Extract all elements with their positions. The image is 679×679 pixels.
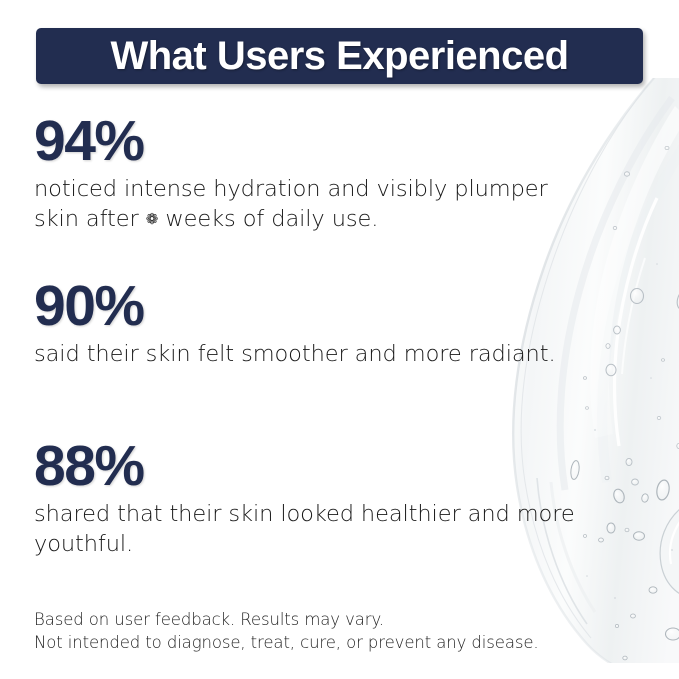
stat-value: 88% [34, 437, 594, 495]
stat-block: 88% shared that their skin looked health… [34, 437, 594, 559]
stat-block: 90% said their skin felt smoother and mo… [34, 277, 594, 369]
page-title: What Users Experienced [110, 36, 568, 76]
stat-block: 94% noticed intense hydration and visibl… [34, 112, 594, 234]
stat-description: noticed intense hydration and visibly pl… [34, 174, 590, 234]
stat-value: 94% [34, 112, 594, 170]
disclaimer-line-1: Based on user feedback. Results may vary… [34, 608, 574, 631]
stat-description: shared that their skin looked healthier … [34, 499, 590, 559]
disclaimer: Based on user feedback. Results may vary… [34, 608, 574, 655]
infographic-canvas: What Users Experienced 94% noticed inten… [0, 0, 679, 679]
disclaimer-line-2: Not intended to diagnose, treat, cure, o… [34, 631, 574, 654]
flower-asterisk-glyph: ❁ [146, 210, 159, 228]
stat-description-text-after: weeks of daily use. [158, 206, 378, 232]
stat-value: 90% [34, 277, 594, 335]
header-banner: What Users Experienced [36, 28, 643, 84]
stat-description: said their skin felt smoother and more r… [34, 339, 590, 369]
